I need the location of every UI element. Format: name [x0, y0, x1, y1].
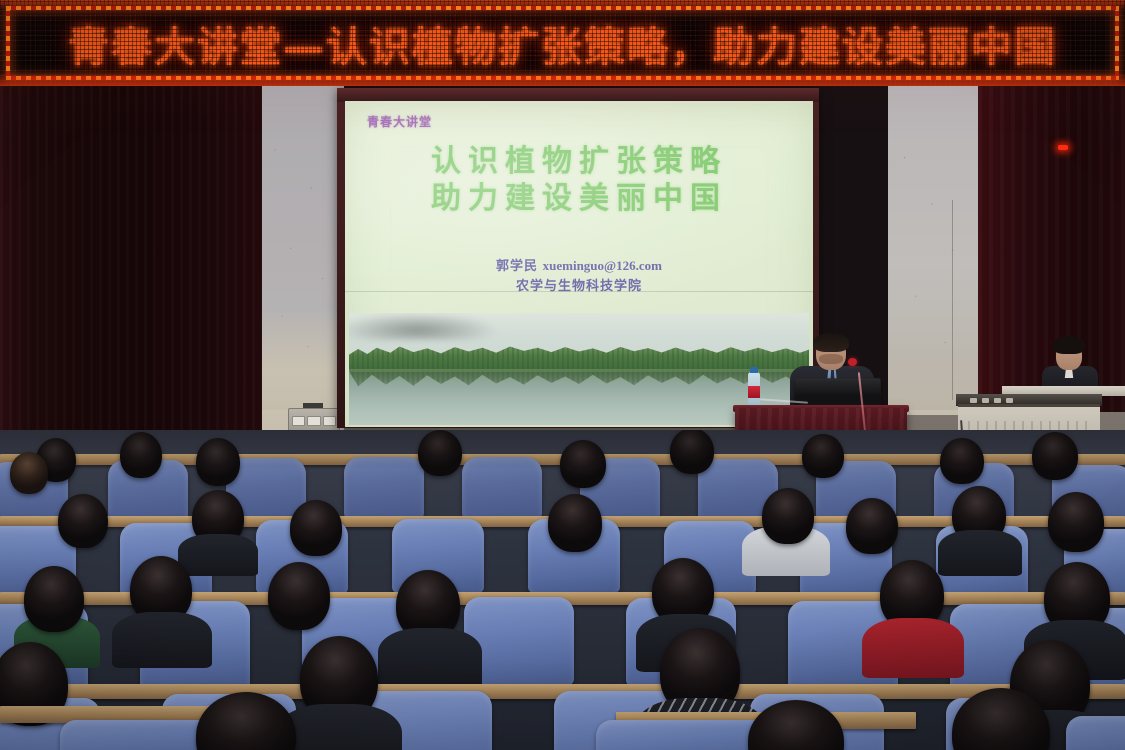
presenter-email: xueminguo@126.com — [543, 258, 662, 273]
operator-hair — [1053, 336, 1085, 354]
audience-head — [290, 500, 342, 556]
seat — [1066, 716, 1125, 750]
audience-head — [268, 562, 330, 630]
audience-shoulders — [938, 530, 1022, 576]
audience-head — [1048, 492, 1104, 552]
audience-depth-shadow — [0, 430, 1125, 470]
slide-presenter-block: 郭学民 xueminguo@126.com 农学与生物科技学院 — [345, 256, 813, 296]
led-banner-text: 青春大讲堂—认识植物扩张策略，助力建设美丽中国 — [0, 13, 1125, 73]
audience-head — [24, 566, 84, 632]
presenter-face-shadow — [819, 354, 843, 364]
wall-seam — [952, 200, 953, 400]
audience-shoulders — [378, 628, 482, 688]
console-knob-icon[interactable] — [970, 398, 977, 403]
slide-title-line-2: 助力建设美丽中国 — [345, 180, 813, 217]
audience-head — [58, 494, 108, 548]
audience-shoulders — [178, 534, 258, 576]
slide-kicker: 青春大讲堂 — [367, 113, 432, 130]
panel-label-strip — [303, 403, 323, 408]
presenter-line: 郭学民 xueminguo@126.com — [345, 256, 813, 276]
led-glow-top — [0, 0, 1125, 10]
microphone-icon — [848, 358, 857, 366]
lecture-hall-scene: 青春大讲堂 认识植物扩张策略 助力建设美丽中国 郭学民 xueminguo@12… — [0, 0, 1125, 750]
console-knob-icon[interactable] — [994, 398, 1001, 403]
audience-head — [846, 498, 898, 554]
slide-title: 认识植物扩张策略 助力建设美丽中国 — [345, 143, 813, 217]
bottle-cap — [750, 367, 758, 373]
switch-icon[interactable] — [323, 416, 336, 426]
projection-screen: 青春大讲堂 认识植物扩张策略 助力建设美丽中国 郭学民 xueminguo@12… — [345, 101, 813, 427]
audience-area — [0, 430, 1125, 750]
bottle-label — [748, 386, 760, 398]
audience-head — [548, 494, 602, 552]
console-knob-icon[interactable] — [1006, 398, 1013, 403]
photo-cloud — [349, 315, 533, 340]
audience-shoulders — [112, 612, 212, 668]
audience-head — [762, 488, 814, 544]
presenter-affiliation: 农学与生物科技学院 — [345, 276, 813, 296]
wall-panel-left — [258, 82, 344, 460]
wall-panel-right — [888, 85, 980, 415]
presenter-name: 郭学民 — [496, 258, 538, 273]
switch-icon[interactable] — [292, 416, 305, 426]
console-knob-icon[interactable] — [982, 398, 989, 403]
red-indicator-light-icon — [1058, 145, 1068, 150]
seat — [596, 720, 771, 750]
screen-scanline — [345, 291, 813, 292]
led-glow-bottom — [0, 72, 1125, 86]
audience-shoulders — [862, 618, 964, 678]
slide-title-line-1: 认识植物扩张策略 — [345, 143, 813, 180]
presenter-hair — [813, 333, 849, 352]
led-banner: 青春大讲堂—认识植物扩张策略，助力建设美丽中国 — [0, 0, 1125, 86]
switch-icon[interactable] — [307, 416, 320, 426]
stage-curtain-left — [0, 82, 262, 482]
